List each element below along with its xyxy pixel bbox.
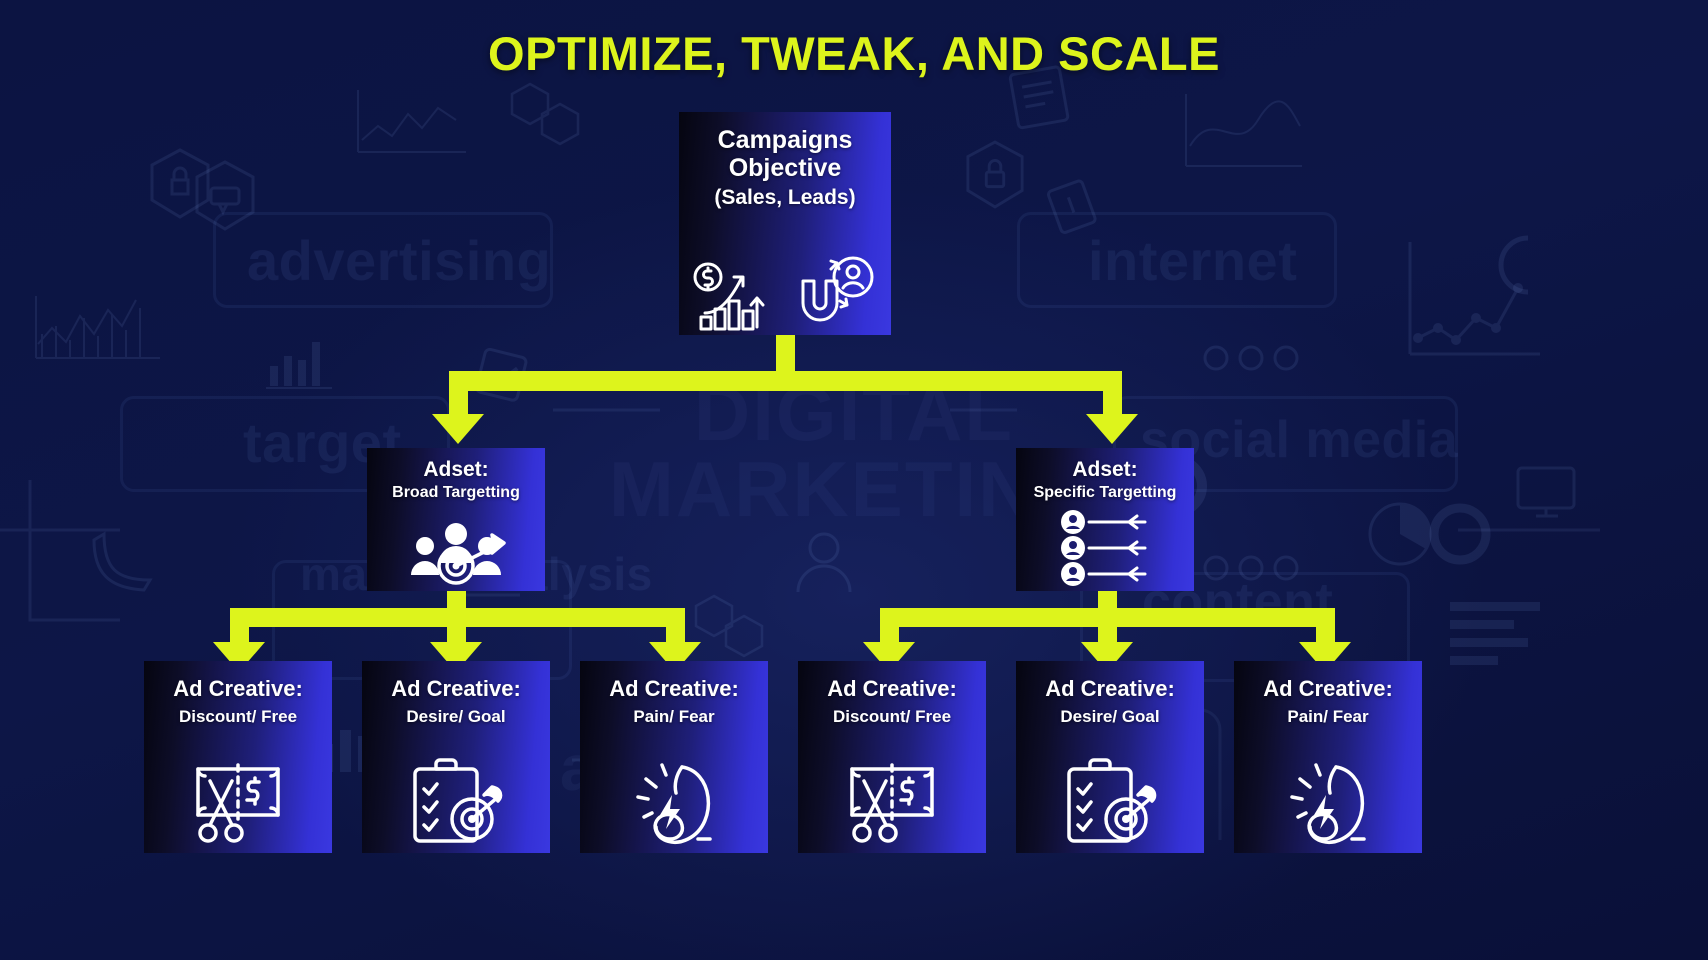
creative-2-line1: Ad Creative: [391, 677, 521, 702]
creative-4-line2: Discount/ Free [833, 707, 951, 727]
bg-note-icon [1038, 170, 1110, 244]
broad-audience-target-icon [404, 517, 508, 587]
bg-box-internet [1017, 212, 1337, 308]
connector-bar-left-branch [230, 608, 685, 627]
node-top-line3: (Sales, Leads) [714, 186, 855, 210]
creative-6-line1: Ad Creative: [1263, 677, 1393, 702]
coupon-scissors-icon [842, 751, 942, 847]
bg-scatter-line-icon [1398, 230, 1548, 370]
bg-hexagon-padlock-icon [964, 140, 1026, 210]
bg-hexagon-pattern-icon [500, 78, 590, 158]
connector-stem-right-branch [1098, 591, 1117, 608]
adset-right-icons [1016, 502, 1194, 591]
bg-line-chart-icon [28, 278, 168, 368]
adset-right-line2: Specific Targetting [1034, 484, 1177, 502]
page-title: OPTIMIZE, TWEAK, AND SCALE [0, 26, 1708, 81]
bg-gears-2-icon [1196, 548, 1306, 588]
creative-6-line2: Pain/ Fear [1287, 707, 1368, 727]
adset-left-line1: Adset: [423, 458, 488, 482]
node-ad-creative-6[interactable]: Ad Creative: Pain/ Fear [1234, 661, 1422, 853]
slide-canvas: advertising internet target social media… [0, 0, 1708, 960]
creative-4-line1: Ad Creative: [827, 677, 957, 702]
creative-5-icons [1016, 726, 1204, 853]
adset-right-line1: Adset: [1072, 458, 1137, 482]
connector-bar-right-branch [880, 608, 1335, 627]
adset-left-icons [367, 502, 545, 591]
node-top-icons [679, 210, 891, 335]
bg-sparkline-icon [352, 82, 472, 162]
bg-word-advertising: advertising [247, 228, 551, 293]
connector-stem-left-branch [447, 591, 466, 608]
specific-audience-arrows-icon [1053, 509, 1157, 587]
adset-left-line2: Broad Targetting [392, 484, 520, 502]
bg-monitor-icon [1512, 458, 1582, 538]
node-ad-creative-3[interactable]: Ad Creative: Pain/ Fear [580, 661, 768, 853]
bg-donut-chart-icon [1424, 498, 1496, 570]
bg-bar-chart-icon [262, 330, 342, 390]
arrowhead-adset-right [1086, 414, 1138, 444]
bg-pie-chart-icon [1360, 494, 1440, 574]
creative-5-line2: Desire/ Goal [1060, 707, 1159, 727]
clipboard-target-icon [406, 751, 506, 847]
coupon-scissors-icon [188, 751, 288, 847]
creative-4-icons [798, 726, 986, 853]
connector-stem-top [776, 335, 795, 371]
bg-user-icon [784, 520, 864, 610]
creative-5-line1: Ad Creative: [1045, 677, 1175, 702]
bg-word-internet: internet [1088, 228, 1297, 293]
node-ad-creative-5[interactable]: Ad Creative: Desire/ Goal [1016, 661, 1204, 853]
node-campaigns-objective[interactable]: Campaigns Objective (Sales, Leads) [679, 112, 891, 335]
node-top-line2: Objective [729, 154, 842, 182]
connector-bar-level1 [449, 371, 1122, 391]
creative-1-line2: Discount/ Free [179, 707, 297, 727]
creative-6-icons [1234, 726, 1422, 853]
creative-1-line1: Ad Creative: [173, 677, 303, 702]
bg-curve-chart-icon [1178, 86, 1308, 176]
creative-2-icons [362, 726, 550, 853]
clipboard-target-icon [1060, 751, 1160, 847]
creative-1-icons [144, 726, 332, 853]
node-ad-creative-4[interactable]: Ad Creative: Discount/ Free [798, 661, 986, 853]
bg-box-advertising [213, 212, 553, 308]
bg-hexagon-chat-icon [193, 160, 257, 232]
lead-magnet-icon [787, 255, 879, 331]
node-top-line1: Campaigns [718, 126, 853, 154]
creative-3-line2: Pain/ Fear [633, 707, 714, 727]
bg-phone-icon [84, 520, 164, 600]
muscle-arm-icon [624, 751, 724, 847]
node-ad-creative-1[interactable]: Ad Creative: Discount/ Free [144, 661, 332, 853]
arrowhead-adset-left [432, 414, 484, 444]
bg-gears-icon [1196, 338, 1306, 378]
node-adset-broad[interactable]: Adset: Broad Targetting [367, 448, 545, 591]
muscle-arm-icon [1278, 751, 1378, 847]
creative-2-line2: Desire/ Goal [406, 707, 505, 727]
bg-hexagon-lock-icon [148, 148, 212, 220]
sales-growth-chart-icon [691, 255, 783, 331]
creative-3-line1: Ad Creative: [609, 677, 739, 702]
creative-3-icons [580, 726, 768, 853]
node-ad-creative-2[interactable]: Ad Creative: Desire/ Goal [362, 661, 550, 853]
bg-bracket-icon [1484, 230, 1544, 300]
node-adset-specific[interactable]: Adset: Specific Targetting [1016, 448, 1194, 591]
bg-hbar-chart-icon [1442, 590, 1562, 680]
